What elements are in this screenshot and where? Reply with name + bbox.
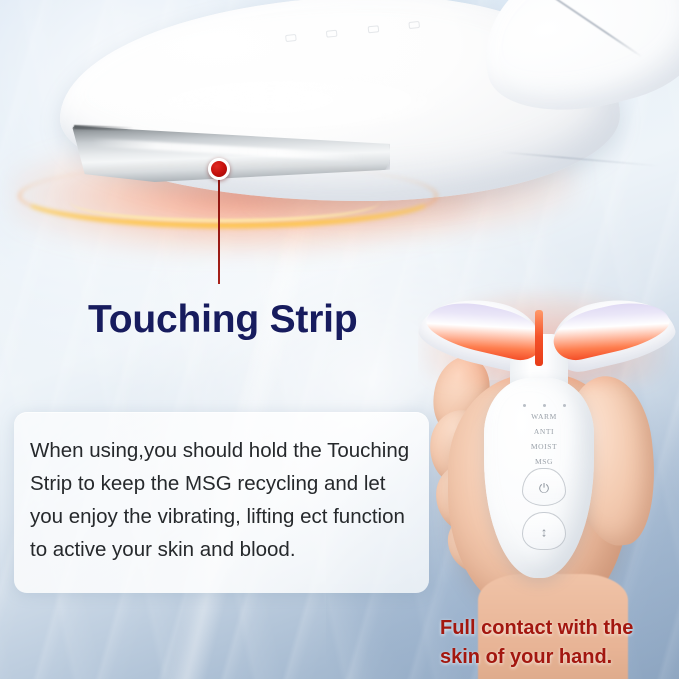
- device-gloss-highlight: [150, 76, 450, 136]
- device2-center-bar: [535, 310, 543, 366]
- mode-icon: ↕: [541, 525, 548, 538]
- device2-mode-panel: WARM ANTI MOIST MSG: [514, 404, 574, 469]
- glow-arc-core: [70, 182, 380, 222]
- top-device-illustration: [0, 0, 679, 256]
- mode-label-warm: WARM: [514, 409, 574, 424]
- power-icon: ⏻: [539, 481, 549, 494]
- mode-label-msg: MSG: [514, 454, 574, 469]
- mode-button[interactable]: ↕: [522, 512, 566, 550]
- hand-contact-caption-line2: skin of your hand.: [440, 643, 670, 672]
- instruction-text: When using,you should hold the Touching …: [30, 434, 415, 566]
- mode-indicator-dots: [514, 404, 574, 407]
- leader-line: [218, 178, 220, 284]
- product-instruction-image: Touching Strip When using,you should hol…: [0, 0, 679, 679]
- mode-label-moist: MOIST: [514, 439, 574, 454]
- hand-contact-caption-line1: Full contact with the: [440, 614, 670, 643]
- red-marker-dot: [208, 158, 230, 180]
- power-button[interactable]: ⏻: [522, 468, 566, 506]
- mode-label-anti: ANTI: [514, 424, 574, 439]
- page-title: Touching Strip: [88, 298, 357, 342]
- hand-contact-caption: Full contact with the skin of your hand.: [440, 614, 670, 672]
